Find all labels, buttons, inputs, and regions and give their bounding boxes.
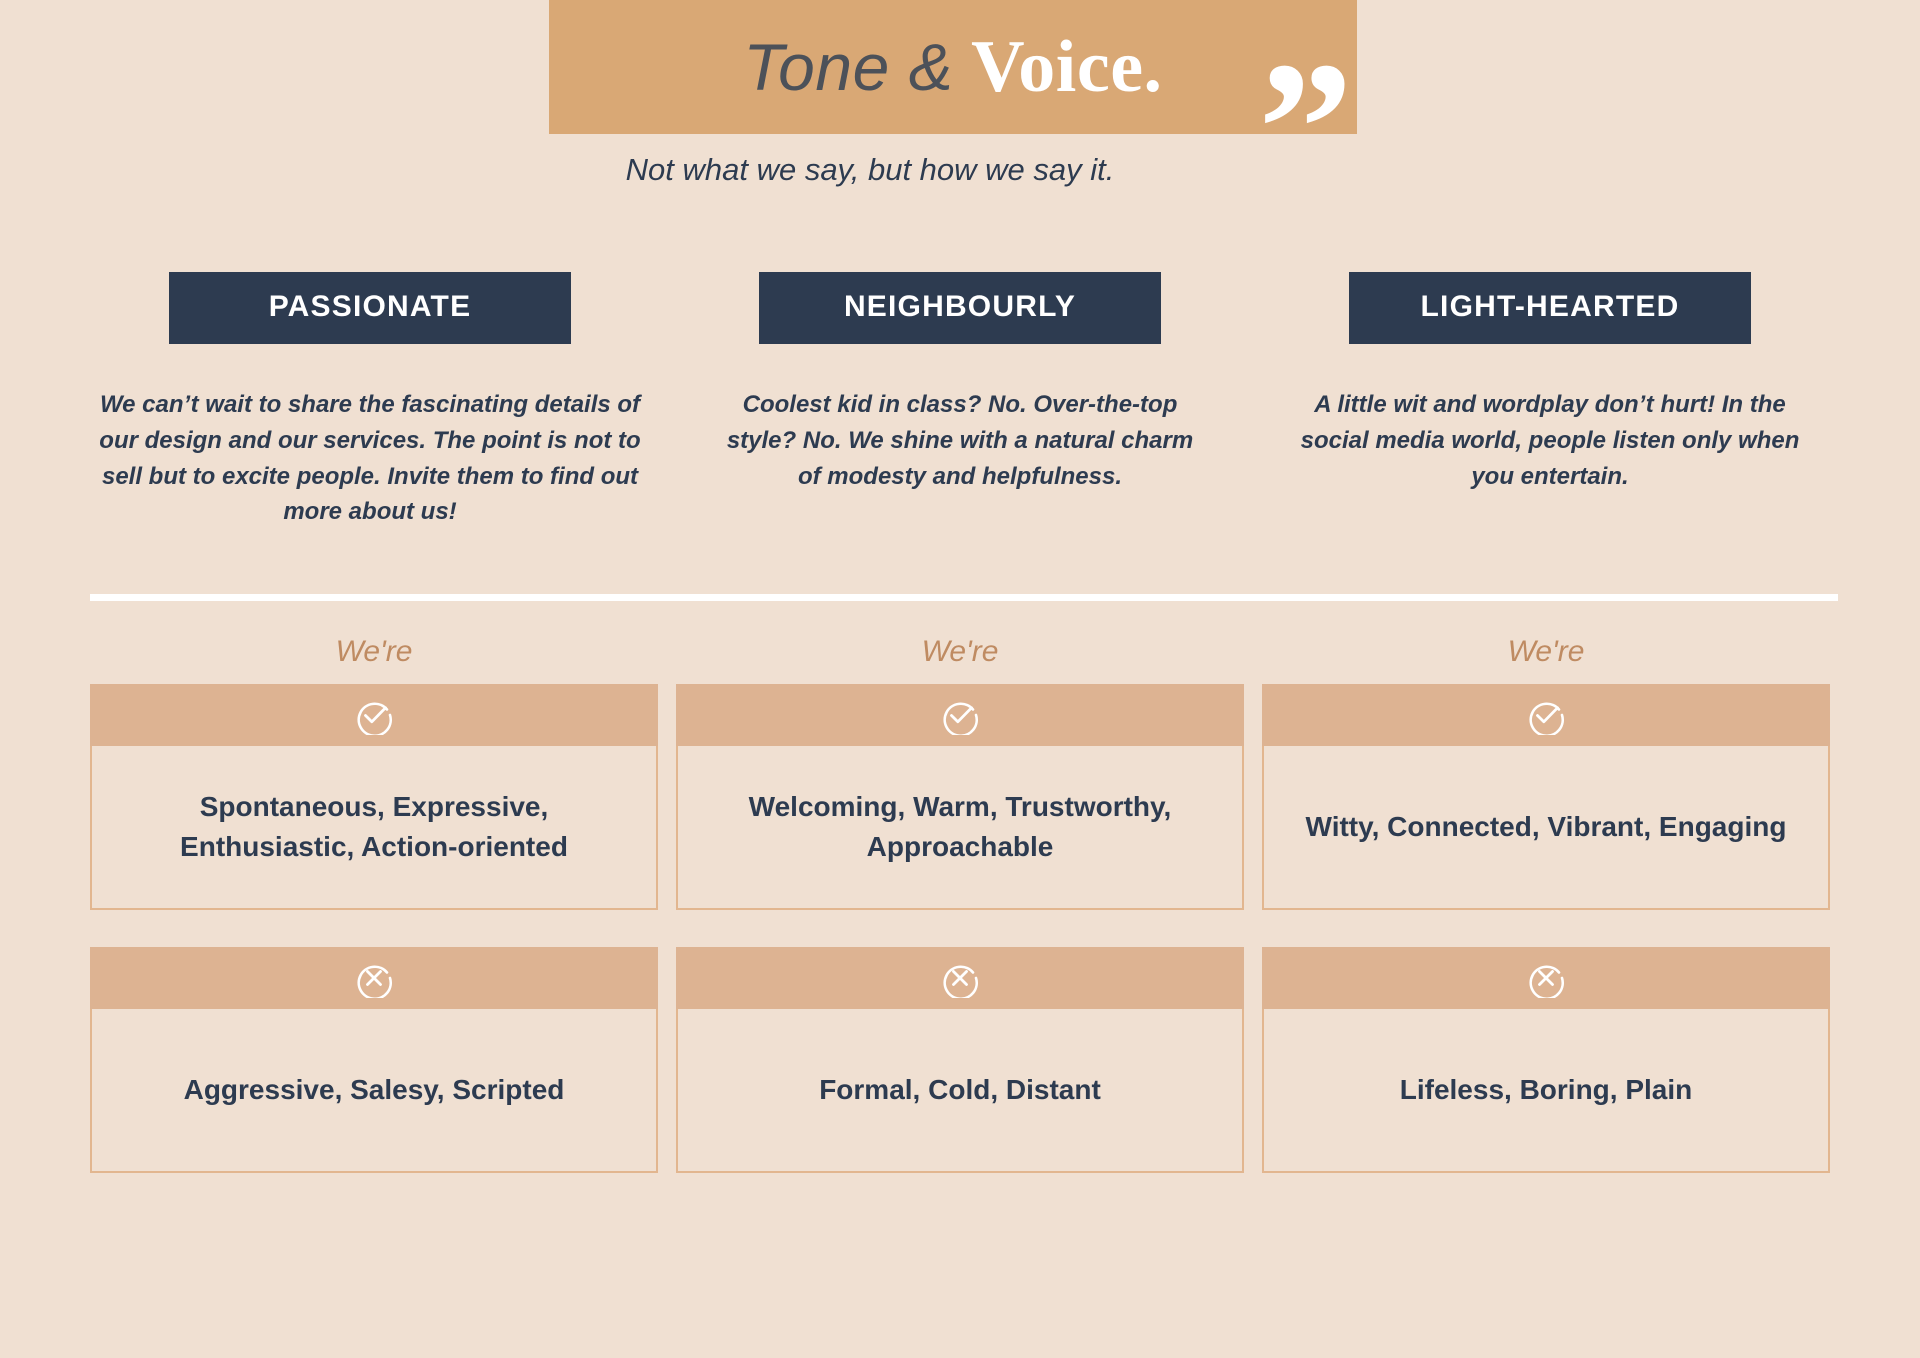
tone-column-neighbourly: NEIGHBOURLY Coolest kid in class? No. Ov… (680, 272, 1240, 530)
tone-heading-wrapper: PASSIONATE (90, 272, 650, 344)
tone-description-light-hearted: A little wit and wordplay don’t hurt! In… (1270, 387, 1830, 494)
were-label-row: We're We're We're (0, 635, 1920, 669)
tone-description-passionate: We can’t wait to share the fascinating d… (90, 387, 650, 530)
do-card-text-passionate: Spontaneous, Expressive, Enthusiastic, A… (116, 787, 632, 867)
do-card-row: Spontaneous, Expressive, Enthusiastic, A… (0, 684, 1920, 910)
page-title-bold: Voice. (971, 30, 1162, 104)
tone-column-light-hearted: LIGHT-HEARTED A little wit and wordplay … (1270, 272, 1830, 530)
tone-columns: PASSIONATE We can’t wait to share the fa… (0, 272, 1920, 530)
page-title-light: Tone & (743, 34, 953, 100)
page-header: Tone & Voice. ” Not what we say, but how… (0, 0, 1920, 200)
dont-card-body: Formal, Cold, Distant (676, 1009, 1244, 1173)
do-card-body: Welcoming, Warm, Trustworthy, Approachab… (676, 746, 1244, 910)
dont-card-row: Aggressive, Salesy, Scripted Formal, Col… (0, 947, 1920, 1173)
dont-card-text-light-hearted: Lifeless, Boring, Plain (1400, 1070, 1693, 1110)
tone-heading-wrapper: NEIGHBOURLY (680, 272, 1240, 344)
x-circle-icon (354, 958, 394, 998)
tone-heading-passionate: PASSIONATE (169, 272, 571, 344)
do-card-text-neighbourly: Welcoming, Warm, Trustworthy, Approachab… (702, 787, 1218, 867)
dont-card-body: Lifeless, Boring, Plain (1262, 1009, 1830, 1173)
do-icon-bar (676, 684, 1244, 746)
do-card-passionate: Spontaneous, Expressive, Enthusiastic, A… (90, 684, 658, 910)
do-icon-bar (1262, 684, 1830, 746)
dont-icon-bar (90, 947, 658, 1009)
do-card-body: Spontaneous, Expressive, Enthusiastic, A… (90, 746, 658, 910)
tone-heading-neighbourly: NEIGHBOURLY (759, 272, 1161, 344)
dont-card-light-hearted: Lifeless, Boring, Plain (1262, 947, 1830, 1173)
do-card-neighbourly: Welcoming, Warm, Trustworthy, Approachab… (676, 684, 1244, 910)
do-card-text-light-hearted: Witty, Connected, Vibrant, Engaging (1306, 807, 1787, 847)
quotation-mark-icon: ” (1258, 34, 1349, 224)
were-label-light-hearted: We're (1262, 635, 1830, 669)
tone-description-neighbourly: Coolest kid in class? No. Over-the-top s… (680, 387, 1240, 494)
dont-card-neighbourly: Formal, Cold, Distant (676, 947, 1244, 1173)
dont-icon-bar (1262, 947, 1830, 1009)
check-circle-icon (1526, 695, 1566, 735)
were-label-passionate: We're (90, 635, 658, 669)
tone-heading-wrapper: LIGHT-HEARTED (1270, 272, 1830, 344)
do-icon-bar (90, 684, 658, 746)
x-circle-icon (940, 958, 980, 998)
dont-card-text-passionate: Aggressive, Salesy, Scripted (184, 1070, 565, 1110)
page-subtitle: Not what we say, but how we say it. (0, 152, 1740, 188)
check-circle-icon (354, 695, 394, 735)
page-title: Tone & Voice. (549, 0, 1357, 134)
tone-column-passionate: PASSIONATE We can’t wait to share the fa… (90, 272, 650, 530)
x-circle-icon (1526, 958, 1566, 998)
check-circle-icon (940, 695, 980, 735)
dont-card-text-neighbourly: Formal, Cold, Distant (819, 1070, 1101, 1110)
do-card-body: Witty, Connected, Vibrant, Engaging (1262, 746, 1830, 910)
dont-card-body: Aggressive, Salesy, Scripted (90, 1009, 658, 1173)
do-card-light-hearted: Witty, Connected, Vibrant, Engaging (1262, 684, 1830, 910)
were-label-neighbourly: We're (676, 635, 1244, 669)
section-divider (90, 594, 1838, 601)
dont-icon-bar (676, 947, 1244, 1009)
tone-heading-light-hearted: LIGHT-HEARTED (1349, 272, 1751, 344)
dont-card-passionate: Aggressive, Salesy, Scripted (90, 947, 658, 1173)
